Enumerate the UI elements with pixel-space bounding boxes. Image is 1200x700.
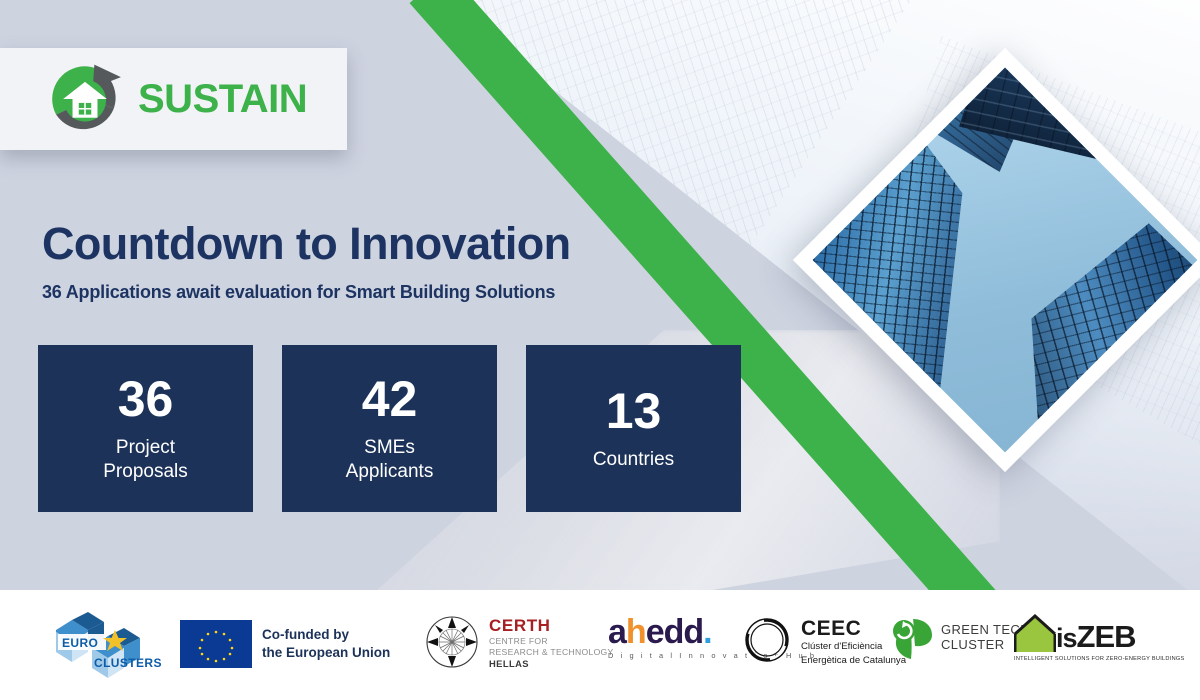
certh-acronym: CERTH [489, 616, 614, 636]
iszeb-row: isZEB [1014, 614, 1136, 652]
ceec-logo: CEEC Clúster d'Eficiència Energètica de … [742, 615, 906, 670]
stat-card: 42 SMEs Applicants [282, 345, 497, 512]
eu-cofunded-logo: Co-funded by the European Union [180, 620, 390, 668]
stat-card: 13 Countries [526, 345, 741, 512]
ahedd-letter-a: a [608, 613, 626, 651]
ahedd-letter-dd: dd [664, 613, 704, 651]
stat-label-line1: Project [103, 436, 188, 459]
iszeb-tagline: INTELLIGENT SOLUTIONS FOR ZERO-ENERGY BU… [1014, 656, 1185, 662]
stat-label: Project Proposals [103, 436, 188, 482]
certh-line1: CENTRE FOR [489, 636, 614, 647]
stat-value: 36 [118, 374, 174, 424]
iszeb-word-zeb: ZEB [1077, 619, 1136, 654]
stat-label-line1: Countries [593, 448, 674, 471]
stat-label-line2: Applicants [346, 460, 434, 483]
page-title: Countdown to Innovation [42, 218, 571, 270]
eu-cofunded-text: Co-funded by the European Union [262, 626, 390, 662]
eu-cofunded-line1: Co-funded by [262, 626, 390, 644]
euroclusters-label-euro: EURO [62, 636, 98, 650]
sustain-house-recycle-icon [46, 60, 124, 138]
iszeb-wordmark: isZEB [1056, 621, 1136, 652]
page-subtitle: 36 Applications await evaluation for Sma… [42, 282, 571, 303]
iszeb-house-icon [1014, 614, 1054, 652]
headline-block: Countdown to Innovation 36 Applications … [42, 218, 571, 303]
iszeb-word-is: is [1056, 623, 1077, 653]
stat-label-line2: Proposals [103, 460, 188, 483]
green-leaf-recycle-icon [890, 617, 934, 659]
partner-logo-bar: EURO CLUSTERS Co-fun [0, 590, 1200, 700]
ahedd-wordmark: ahedd. [608, 616, 712, 648]
sustain-wordmark: SUSTAIN [138, 77, 307, 122]
eu-flag-icon [180, 620, 252, 668]
sustain-logo-card: SUSTAIN [0, 48, 347, 150]
green-tech-cluster-logo: GREEN TECH CLUSTER [890, 617, 1030, 659]
stat-value: 42 [362, 374, 418, 424]
ceec-ring-icon [742, 615, 792, 670]
ahedd-letter-h: h [626, 613, 646, 651]
certh-line2: RESEARCH & TECHNOLOGY [489, 647, 614, 658]
iszeb-logo: isZEB INTELLIGENT SOLUTIONS FOR ZERO-ENE… [1014, 614, 1185, 662]
ahedd-dot: . [703, 613, 711, 651]
ahedd-letter-e: e [646, 613, 664, 651]
certh-line3: HELLAS [489, 658, 614, 669]
poster-canvas: SUSTAIN Countdown to Innovation 36 Appli… [0, 0, 1200, 700]
eu-cofunded-line2: the European Union [262, 644, 390, 662]
certh-text: CERTH CENTRE FOR RESEARCH & TECHNOLOGY H… [489, 616, 614, 669]
certh-emblem-icon [424, 614, 480, 670]
euroclusters-logo: EURO CLUSTERS [42, 612, 154, 680]
stat-value: 13 [606, 386, 662, 436]
stat-card: 36 Project Proposals [38, 345, 253, 512]
euroclusters-label-clusters: CLUSTERS [94, 656, 162, 670]
stat-label: Countries [593, 448, 674, 471]
stats-row: 36 Project Proposals 42 SMEs Applicants … [38, 345, 741, 512]
stat-label: SMEs Applicants [346, 436, 434, 482]
stat-label-line1: SMEs [346, 436, 434, 459]
certh-logo: CERTH CENTRE FOR RESEARCH & TECHNOLOGY H… [424, 614, 614, 670]
